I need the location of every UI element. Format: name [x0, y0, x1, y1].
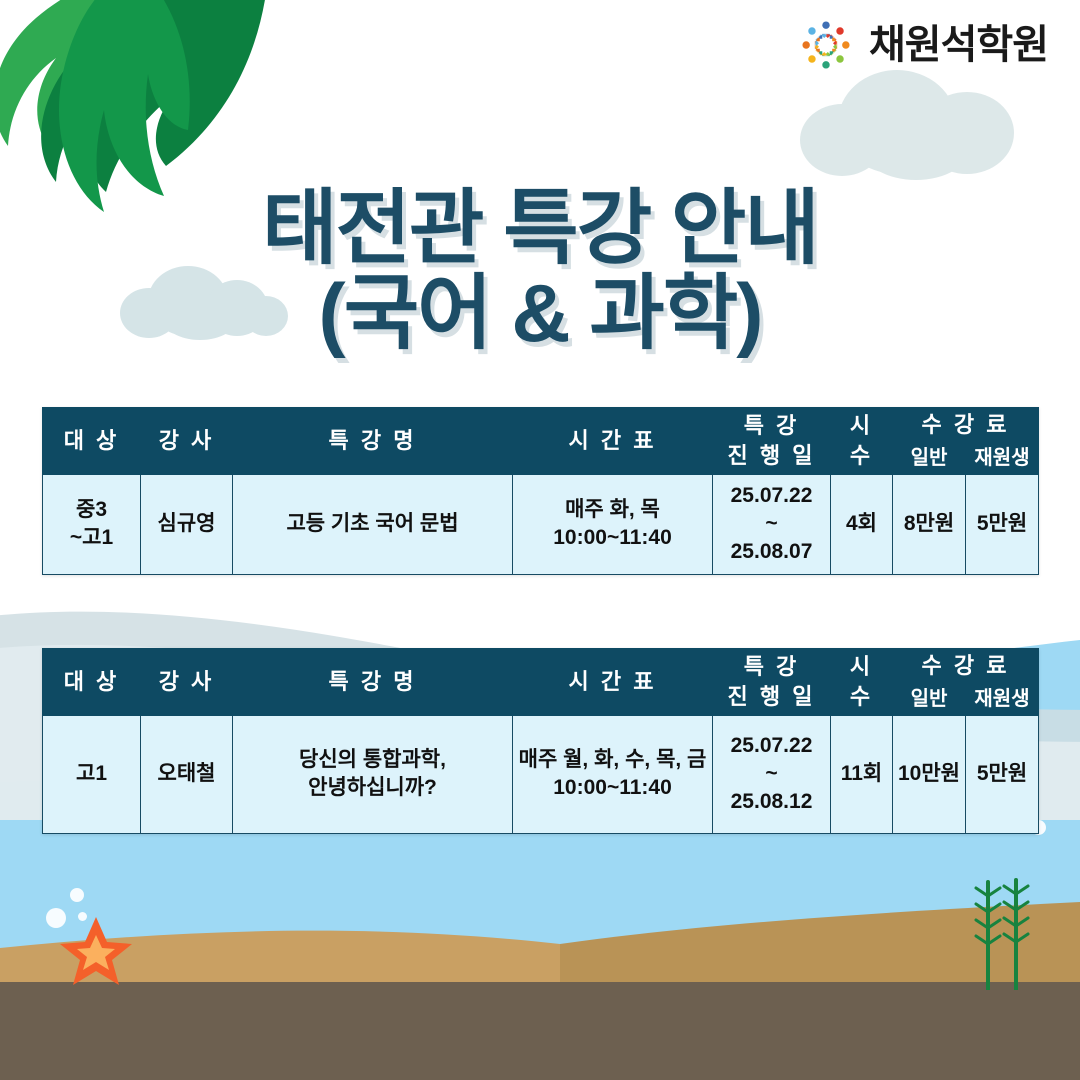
col-dates-line2: 진 행 일: [716, 682, 827, 712]
cell-course: 당신의 통합과학, 안녕하십니까?: [233, 715, 513, 833]
col-target: 대 상: [43, 408, 141, 475]
cell-teacher: 오태철: [141, 715, 233, 833]
col-dates-line1: 특 강: [716, 411, 827, 441]
cell-fee-general: 8만원: [893, 474, 966, 574]
cell-sessions: 4회: [831, 474, 893, 574]
col-dates-line1: 특 강: [716, 652, 827, 682]
cell-date-separator: ~: [716, 760, 827, 788]
table-science: 대 상 강 사 특 강 명 시 간 표 특 강 진 행 일 시 수 수 강 료 …: [42, 648, 1039, 834]
col-teacher: 강 사: [141, 408, 233, 475]
col-fee: 수 강 료: [893, 649, 1039, 684]
cell-dates: 25.07.22 ~ 25.08.07: [713, 474, 831, 574]
cell-target: 중3 ~고1: [43, 474, 141, 574]
col-course: 특 강 명: [233, 408, 513, 475]
cell-schedule: 매주 월, 화, 수, 목, 금 10:00~11:40: [513, 715, 713, 833]
col-dates: 특 강 진 행 일: [713, 408, 831, 475]
col-fee-enrolled: 재원생: [966, 683, 1039, 715]
cell-target-line1: 고1: [46, 760, 137, 788]
people-circle-logo-icon: [795, 14, 857, 76]
cell-schedule: 매주 화, 목 10:00~11:40: [513, 474, 713, 574]
cell-date-end: 25.08.12: [716, 788, 827, 816]
brand-logo: 채원석학원: [795, 14, 1048, 76]
col-target: 대 상: [43, 649, 141, 716]
cell-target-line1: 중3: [46, 496, 137, 524]
col-sessions: 시 수: [831, 408, 893, 475]
seabed-shape: [0, 982, 1080, 1080]
cloud-icon: [800, 70, 1050, 180]
cell-date-start: 25.07.22: [716, 482, 827, 510]
col-fee-enrolled: 재원생: [966, 442, 1039, 474]
col-dates-line2: 진 행 일: [716, 441, 827, 471]
cell-schedule-line2: 10:00~11:40: [516, 524, 709, 552]
col-sessions: 시 수: [831, 649, 893, 716]
cell-target: 고1: [43, 715, 141, 833]
table-row: 중3 ~고1 심규영 고등 기초 국어 문법 매주 화, 목 10:00~11:…: [43, 474, 1039, 574]
cell-teacher: 심규영: [141, 474, 233, 574]
cell-course-line1: 고등 기초 국어 문법: [236, 510, 509, 538]
col-fee-general: 일반: [893, 442, 966, 474]
starfish-icon: [58, 915, 134, 987]
col-fee: 수 강 료: [893, 408, 1039, 443]
seaweed-icon: [968, 872, 1040, 990]
col-dates: 특 강 진 행 일: [713, 649, 831, 716]
table-header-row: 대 상 강 사 특 강 명 시 간 표 특 강 진 행 일 시 수 수 강 료: [43, 649, 1039, 684]
cell-target-line2: ~고1: [46, 524, 137, 552]
cell-fee-general: 10만원: [893, 715, 966, 833]
cell-schedule-line2: 10:00~11:40: [516, 774, 709, 802]
cell-course: 고등 기초 국어 문법: [233, 474, 513, 574]
cell-fee-enrolled: 5만원: [966, 474, 1039, 574]
cell-course-line2: 안녕하십니까?: [236, 774, 509, 802]
col-course: 특 강 명: [233, 649, 513, 716]
page-title: 태전관 특강 안내 (국어 & 과학): [0, 186, 1080, 357]
cell-dates: 25.07.22 ~ 25.08.12: [713, 715, 831, 833]
poster-canvas: 채원석학원 태전관 특강 안내 (국어 & 과학) 대 상 강 사 특 강 명 …: [0, 0, 1080, 1080]
table-row: 고1 오태철 당신의 통합과학, 안녕하십니까? 매주 월, 화, 수, 목, …: [43, 715, 1039, 833]
cell-schedule-line1: 매주 월, 화, 수, 목, 금: [516, 746, 709, 774]
cell-date-end: 25.08.07: [716, 538, 827, 566]
cell-date-separator: ~: [716, 510, 827, 538]
cell-schedule-line1: 매주 화, 목: [516, 496, 709, 524]
table-header-row: 대 상 강 사 특 강 명 시 간 표 특 강 진 행 일 시 수 수 강 료: [43, 408, 1039, 443]
cell-course-line1: 당신의 통합과학,: [236, 746, 509, 774]
col-teacher: 강 사: [141, 649, 233, 716]
col-schedule: 시 간 표: [513, 649, 713, 716]
cell-sessions: 11회: [831, 715, 893, 833]
cell-date-start: 25.07.22: [716, 732, 827, 760]
table-korean: 대 상 강 사 특 강 명 시 간 표 특 강 진 행 일 시 수 수 강 료 …: [42, 407, 1039, 575]
brand-name: 채원석학원: [869, 25, 1048, 65]
col-fee-general: 일반: [893, 683, 966, 715]
page-title-line2: (국어 & 과학): [0, 271, 1080, 356]
page-title-line1: 태전관 특강 안내: [262, 183, 818, 274]
col-schedule: 시 간 표: [513, 408, 713, 475]
cell-fee-enrolled: 5만원: [966, 715, 1039, 833]
